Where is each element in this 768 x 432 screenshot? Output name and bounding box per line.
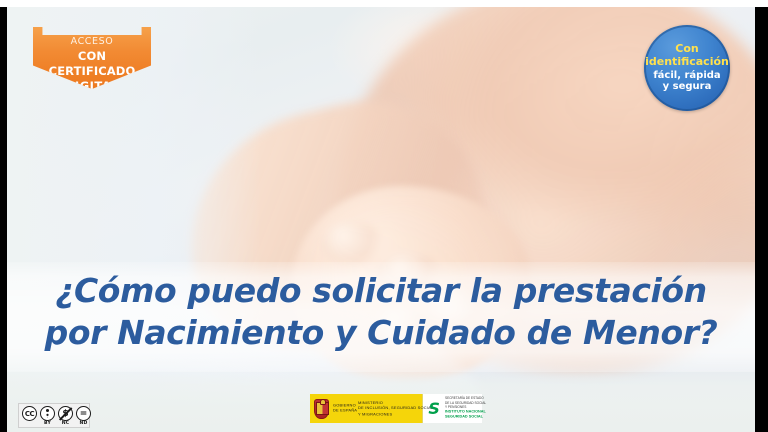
coat-of-arms-icon xyxy=(314,399,329,419)
slide-content: ¿Cómo puedo solicitar la prestaciónpor N… xyxy=(7,7,755,432)
ministerio-label: MINISTERIO DE INCLUSIÓN, SEGURIDAD SOCIA… xyxy=(358,400,433,417)
slide-screenshot: ¿Cómo puedo solicitar la prestaciónpor N… xyxy=(0,0,768,432)
cc-icon-item: CC CC xyxy=(21,406,38,427)
cc-icon-item: = ND xyxy=(75,406,92,427)
seguridad-social-s-icon xyxy=(427,400,442,417)
gobierno-label: GOBIERNO DE ESPAÑA xyxy=(333,403,357,414)
gov-text-block: GOBIERNO DE ESPAÑA MINISTERIO DE INCLUSI… xyxy=(333,402,417,415)
creative-commons-badge[interactable]: CC CC BY $ NC = ND xyxy=(18,403,90,428)
page-title: ¿Cómo puedo solicitar la prestaciónpor N… xyxy=(7,270,755,354)
badge-id-line-1: Con xyxy=(675,43,698,56)
noderivatives-equals-icon: = xyxy=(76,406,91,421)
title-line-1: ¿Cómo puedo solicitar la prestación xyxy=(55,271,707,310)
cc-icon-label: BY xyxy=(44,422,51,427)
top-white-strip xyxy=(0,0,768,7)
badge-id-line-3: fácil, rápida xyxy=(653,70,720,82)
gobierno-de-espana-block: GOBIERNO DE ESPAÑA MINISTERIO DE INCLUSI… xyxy=(310,394,422,423)
title-line-2: por Nacimiento y Cuidado de Menor? xyxy=(45,313,718,352)
creative-commons-icon: CC xyxy=(22,406,37,421)
instituto-nacional-label: INSTITUTO NACIONAL SEGURIDAD SOCIAL xyxy=(445,409,486,419)
badge-id-line-4: y segura xyxy=(663,81,712,93)
attribution-person-icon xyxy=(40,406,55,421)
seguridad-social-text: SECRETARÍA DE ESTADO DE LA SEGURIDAD SOC… xyxy=(445,398,479,418)
cc-icon-row: CC CC BY $ NC = ND xyxy=(21,406,92,427)
photo-knuckle xyxy=(320,221,382,264)
badge-con-identificacion[interactable]: Con identificación fácil, rápida y segur… xyxy=(644,25,730,111)
strike-line xyxy=(59,407,72,420)
cc-icon-item: $ NC xyxy=(57,406,74,427)
badge-cert-line-1: ACCESO xyxy=(33,35,151,49)
cc-icon-item: BY xyxy=(39,406,56,427)
cc-icon-label: NC xyxy=(62,422,70,427)
government-logo-banner: GOBIERNO DE ESPAÑA MINISTERIO DE INCLUSI… xyxy=(310,394,482,423)
cc-icon-label: ND xyxy=(79,422,87,427)
seguridad-social-block: SECRETARÍA DE ESTADO DE LA SEGURIDAD SOC… xyxy=(422,394,483,423)
badge-id-line-2: identificación xyxy=(645,56,729,69)
noncommercial-dollar-icon: $ xyxy=(58,406,73,421)
